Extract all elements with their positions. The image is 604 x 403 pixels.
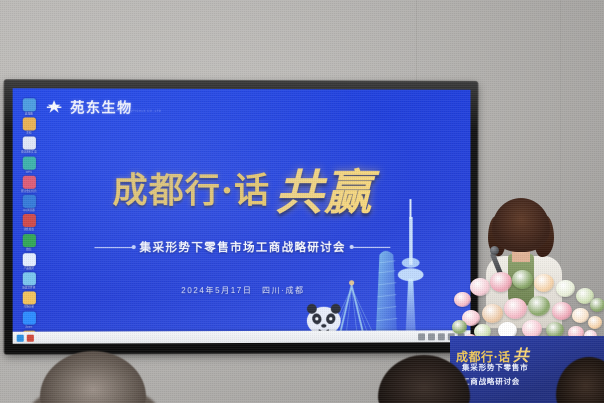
desktop-icon-column[interactable]: 此电脑文档会议资料汇总WPS研讨会幻灯片QQ浏览器销售报表微信产品图片新建文件夹… — [15, 96, 68, 344]
foliage-leaf — [512, 270, 533, 289]
foliage-leaf — [452, 320, 467, 334]
flower-blossom — [470, 278, 490, 296]
qq-browser-icon-label: QQ浏览器 — [17, 209, 41, 212]
new-folder-icon-glyph — [22, 272, 35, 285]
product-images-icon[interactable]: 产品图片 — [17, 253, 41, 270]
flower-blossom — [504, 298, 527, 319]
sales-report-icon-label: 销售报表 — [17, 228, 41, 231]
network-icon[interactable] — [418, 333, 425, 340]
taskbar-pinned-group[interactable] — [17, 334, 34, 341]
zoom-app-icon-glyph — [22, 311, 35, 324]
seminar-slides-icon-label: 研讨会幻灯片 — [17, 190, 41, 193]
wechat-icon-glyph — [22, 234, 35, 247]
meeting-materials-icon-label: 会议资料汇总 — [17, 151, 41, 154]
conference-room-scene: 苑东生物 CHENGDU EASTON BIOPHARMACEUTICALS C… — [0, 0, 604, 403]
flower-blossom — [556, 280, 575, 297]
documents-folder-icon-glyph — [22, 118, 35, 131]
meeting-materials-icon-glyph — [22, 137, 35, 150]
flower-blossom — [552, 302, 572, 320]
market-analysis-icon-glyph — [22, 292, 35, 305]
flower-blossom — [482, 304, 503, 323]
slide-title-part-a: 成都行·话 — [112, 170, 270, 211]
pdf-reader-icon[interactable] — [27, 334, 34, 341]
product-images-icon-glyph — [22, 253, 35, 266]
market-analysis-icon-label: 市场分析 — [17, 306, 41, 309]
this-pc-icon-glyph — [22, 98, 35, 111]
flower-blossom — [534, 274, 554, 292]
wps-icon[interactable]: WPS — [17, 156, 41, 173]
foliage-leaf — [528, 296, 550, 316]
product-images-icon-label: 产品图片 — [17, 267, 41, 270]
new-folder-icon[interactable]: 新建文件夹 — [17, 272, 41, 289]
presenter-hair-top — [492, 198, 550, 252]
chengdu-skyline-graphic — [302, 193, 471, 343]
subtitle-rule-left — [94, 247, 132, 248]
display-screen[interactable]: 苑东生物 CHENGDU EASTON BIOPHARMACEUTICALS C… — [13, 88, 471, 344]
windows-taskbar[interactable] — [13, 330, 471, 343]
flower-blossom — [572, 308, 589, 323]
wps-icon-glyph — [22, 156, 35, 169]
start-button[interactable] — [17, 334, 24, 341]
flower-blossom — [588, 316, 602, 329]
market-analysis-icon[interactable]: 市场分析 — [17, 292, 41, 309]
podium-sign-sub-line2: 工商战略研讨会 — [462, 376, 520, 387]
documents-folder-icon[interactable]: 文档 — [17, 118, 41, 135]
seminar-slides-icon[interactable]: 研讨会幻灯片 — [17, 176, 41, 193]
meeting-materials-icon[interactable]: 会议资料汇总 — [17, 137, 41, 154]
presentation-display: 苑东生物 CHENGDU EASTON BIOPHARMACEUTICALS C… — [5, 80, 478, 354]
logo-company-latin: CHENGDU EASTON BIOPHARMACEUTICALS CO.,LT… — [70, 109, 161, 112]
battery-icon[interactable] — [438, 333, 445, 340]
new-folder-icon-label: 新建文件夹 — [17, 286, 41, 289]
wechat-icon-label: 微信 — [17, 248, 41, 251]
wechat-icon[interactable]: 微信 — [17, 234, 41, 251]
zoom-app-icon[interactable]: Zoom — [17, 311, 41, 328]
microphone-head-icon — [490, 246, 499, 255]
zoom-app-icon-label: Zoom — [17, 325, 41, 328]
documents-folder-icon-label: 文档 — [17, 132, 41, 135]
sales-report-icon-glyph — [22, 214, 35, 227]
flower-blossom — [454, 292, 471, 307]
podium-sign-sub-line1: 集采形势下零售市 — [462, 362, 528, 373]
presentation-slide: 苑东生物 CHENGDU EASTON BIOPHARMACEUTICALS C… — [13, 88, 471, 344]
this-pc-icon[interactable]: 此电脑 — [17, 98, 41, 115]
seminar-slides-icon-glyph — [22, 176, 35, 189]
wps-icon-label: WPS — [17, 170, 41, 173]
qq-browser-icon-glyph — [22, 195, 35, 208]
this-pc-icon-label: 此电脑 — [17, 112, 41, 115]
volume-icon[interactable] — [428, 333, 435, 340]
qq-browser-icon[interactable]: QQ浏览器 — [17, 195, 41, 212]
sales-report-icon[interactable]: 销售报表 — [17, 214, 41, 231]
flower-blossom — [490, 272, 512, 292]
floral-arrangement — [448, 264, 604, 342]
foliage-leaf — [590, 298, 604, 312]
